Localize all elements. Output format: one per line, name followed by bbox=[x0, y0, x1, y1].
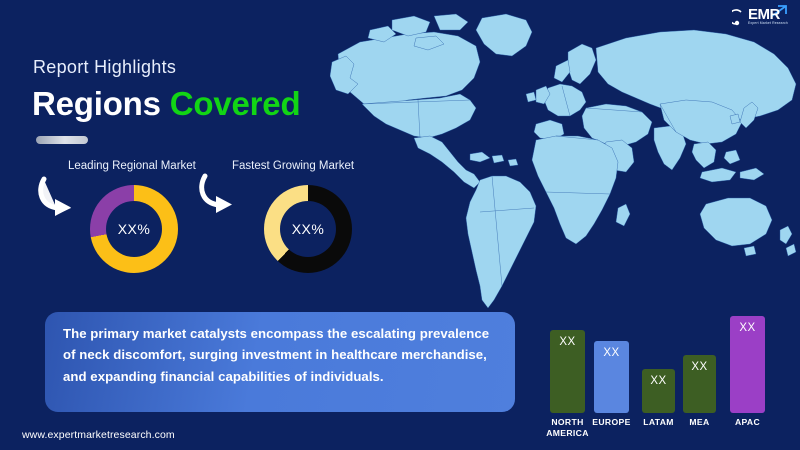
bar-column: XXMEA bbox=[683, 305, 716, 413]
bar-value-label: XX bbox=[642, 375, 675, 387]
emr-logo: EMR Expert Market Research bbox=[732, 4, 794, 32]
bar-category-label: NORTHAMERICA bbox=[546, 417, 589, 438]
report-highlights-slide: EMR Expert Market Research Report Highli… bbox=[0, 0, 800, 450]
bar-column: XXNORTHAMERICA bbox=[550, 305, 585, 413]
donut-label: Leading Regional Market bbox=[68, 160, 196, 172]
bar-category-label: MEA bbox=[689, 417, 709, 428]
footer-url: www.expertmarketresearch.com bbox=[22, 429, 175, 441]
bar-rect: XX bbox=[642, 369, 675, 413]
bar-column: XXLATAM bbox=[642, 305, 675, 413]
bar-column: XXEUROPE bbox=[594, 305, 629, 413]
emr-logo-tagline: Expert Market Research bbox=[748, 21, 788, 25]
donut-label: Fastest Growing Market bbox=[232, 160, 354, 172]
regions-bar-chart: XXNORTHAMERICAXXEUROPEXXLATAMXXMEAXXAPAC bbox=[550, 278, 795, 413]
eyebrow-label: Report Highlights bbox=[33, 57, 176, 78]
callout-text: The primary market catalysts encompass t… bbox=[63, 323, 497, 387]
bar-value-label: XX bbox=[683, 361, 716, 373]
title-underline bbox=[36, 136, 88, 144]
bar-category-label: LATAM bbox=[643, 417, 674, 428]
bar-column: XXAPAC bbox=[730, 305, 765, 413]
donut-ring: XX% bbox=[90, 185, 178, 273]
donut-value: XX% bbox=[292, 221, 325, 237]
curved-arrow-icon bbox=[38, 176, 80, 221]
page-title-word-1: Regions bbox=[32, 85, 161, 122]
bar-rect: XX bbox=[550, 330, 585, 413]
bar-category-label: APAC bbox=[735, 417, 760, 428]
donut-value: XX% bbox=[118, 221, 151, 237]
bar-value-label: XX bbox=[550, 336, 585, 348]
page-title-word-2: Covered bbox=[170, 85, 301, 122]
curved-arrow-icon bbox=[199, 173, 241, 218]
donut-fastest-growing-market: Fastest Growing Market XX% bbox=[232, 160, 432, 280]
bar-value-label: XX bbox=[594, 347, 629, 359]
page-title: Regions Covered bbox=[32, 85, 300, 123]
bar-value-label: XX bbox=[730, 322, 765, 334]
bar-rect: XX bbox=[730, 316, 765, 413]
callout-box: The primary market catalysts encompass t… bbox=[45, 312, 515, 412]
bar-category-label: EUROPE bbox=[592, 417, 630, 428]
donut-ring: XX% bbox=[264, 185, 352, 273]
bar-rect: XX bbox=[594, 341, 629, 413]
bar-rect: XX bbox=[683, 355, 716, 413]
